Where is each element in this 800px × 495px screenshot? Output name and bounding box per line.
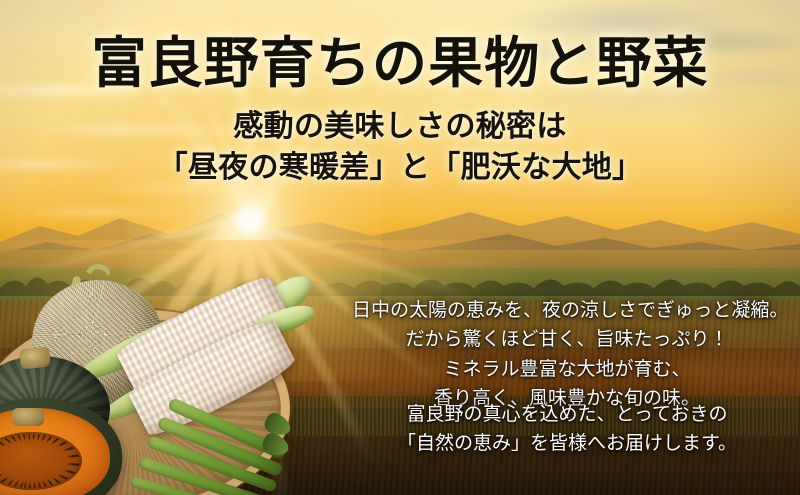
body2-line-2: 「自然の恵み」を皆様へお届けします。 [352,429,782,458]
furano-produce-banner: 富良野育ちの果物と野菜 感動の美味しさの秘密は 「昼夜の寒暖差」と「肥沃な大地」… [0,0,800,495]
subtitle-line-2: 「昼夜の寒暖差」と「肥沃な大地」 [0,147,800,188]
subtitle-block: 感動の美味しさの秘密は 「昼夜の寒暖差」と「肥沃な大地」 [0,106,800,189]
body1-line-2: だから驚くほど甘く、旨味たっぷり！ [352,325,782,354]
body-paragraph-1: 日中の太陽の恵みを、夜の涼しさでぎゅっと凝縮。 だから驚くほど甘く、旨味たっぷり… [352,296,782,414]
body2-line-1: 富良野の真心を込めた、とっておきの [352,400,782,429]
body1-line-3: ミネラル豊富な大地が育む、 [352,355,782,384]
body1-line-1: 日中の太陽の恵みを、夜の涼しさでぎゅっと凝縮。 [352,296,782,325]
sun-core-icon [236,206,264,234]
body-paragraph-2: 富良野の真心を込めた、とっておきの 「自然の恵み」を皆様へお届けします。 [352,400,782,459]
produce-basket-group [0,282,308,495]
page-title: 富良野育ちの果物と野菜 [0,34,800,93]
subtitle-line-1: 感動の美味しさの秘密は [0,106,800,147]
kabocha-stem-whole [19,346,51,369]
kabocha-stem-half [12,408,44,426]
